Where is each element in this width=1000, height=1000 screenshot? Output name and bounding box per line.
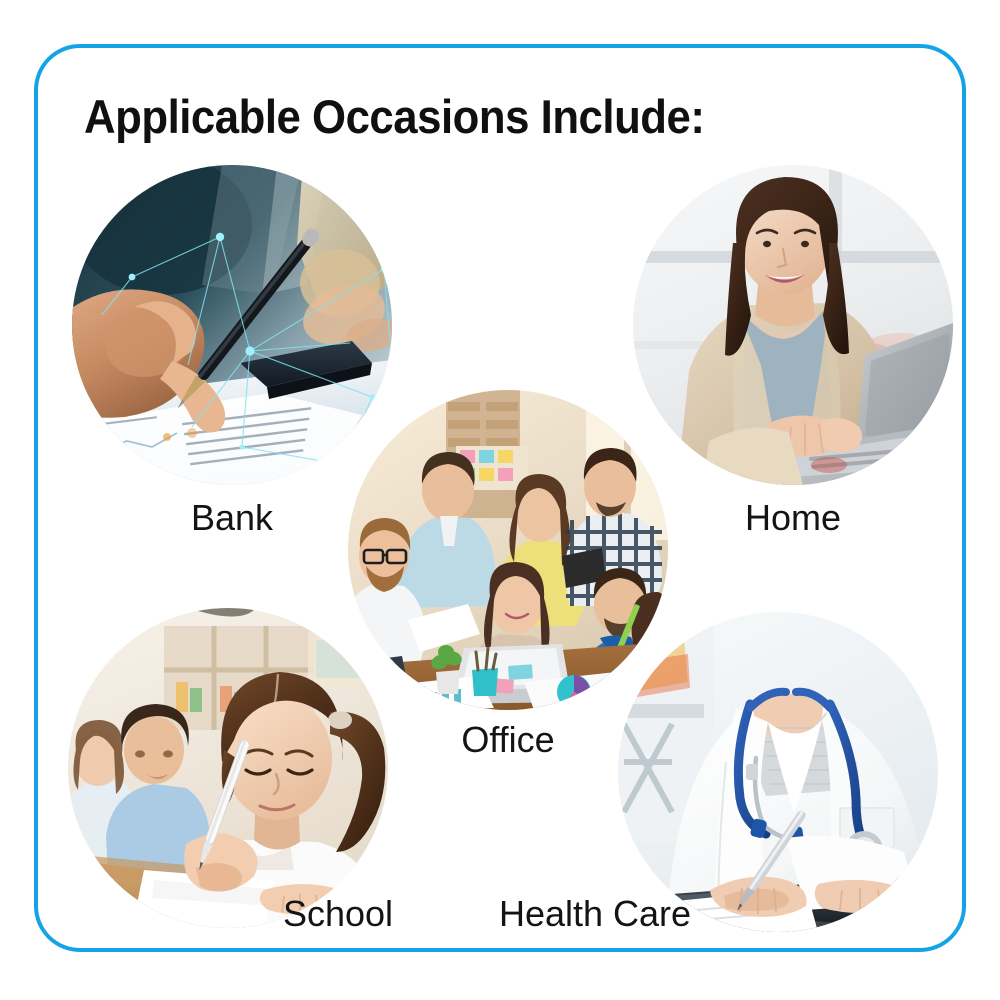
healthcare-scene-illustration	[618, 612, 938, 932]
occasion-label-health-care: Health Care	[495, 896, 695, 932]
school-scene-illustration	[68, 608, 388, 928]
home-scene-illustration	[633, 165, 953, 485]
poster-canvas: Applicable Occasions Include:	[0, 0, 1000, 1000]
occasion-label-school: School	[238, 896, 438, 932]
office-scene-illustration	[348, 390, 668, 710]
occasion-image-office	[348, 390, 668, 710]
occasion-label-office: Office	[408, 722, 608, 758]
occasion-image-bank	[72, 165, 392, 485]
occasion-image-health-care	[618, 612, 938, 932]
occasion-label-bank: Bank	[132, 500, 332, 536]
occasion-image-school	[68, 608, 388, 928]
bank-scene-illustration	[72, 165, 392, 485]
occasion-label-home: Home	[693, 500, 893, 536]
occasion-image-home	[633, 165, 953, 485]
page-title: Applicable Occasions Include:	[84, 92, 704, 141]
